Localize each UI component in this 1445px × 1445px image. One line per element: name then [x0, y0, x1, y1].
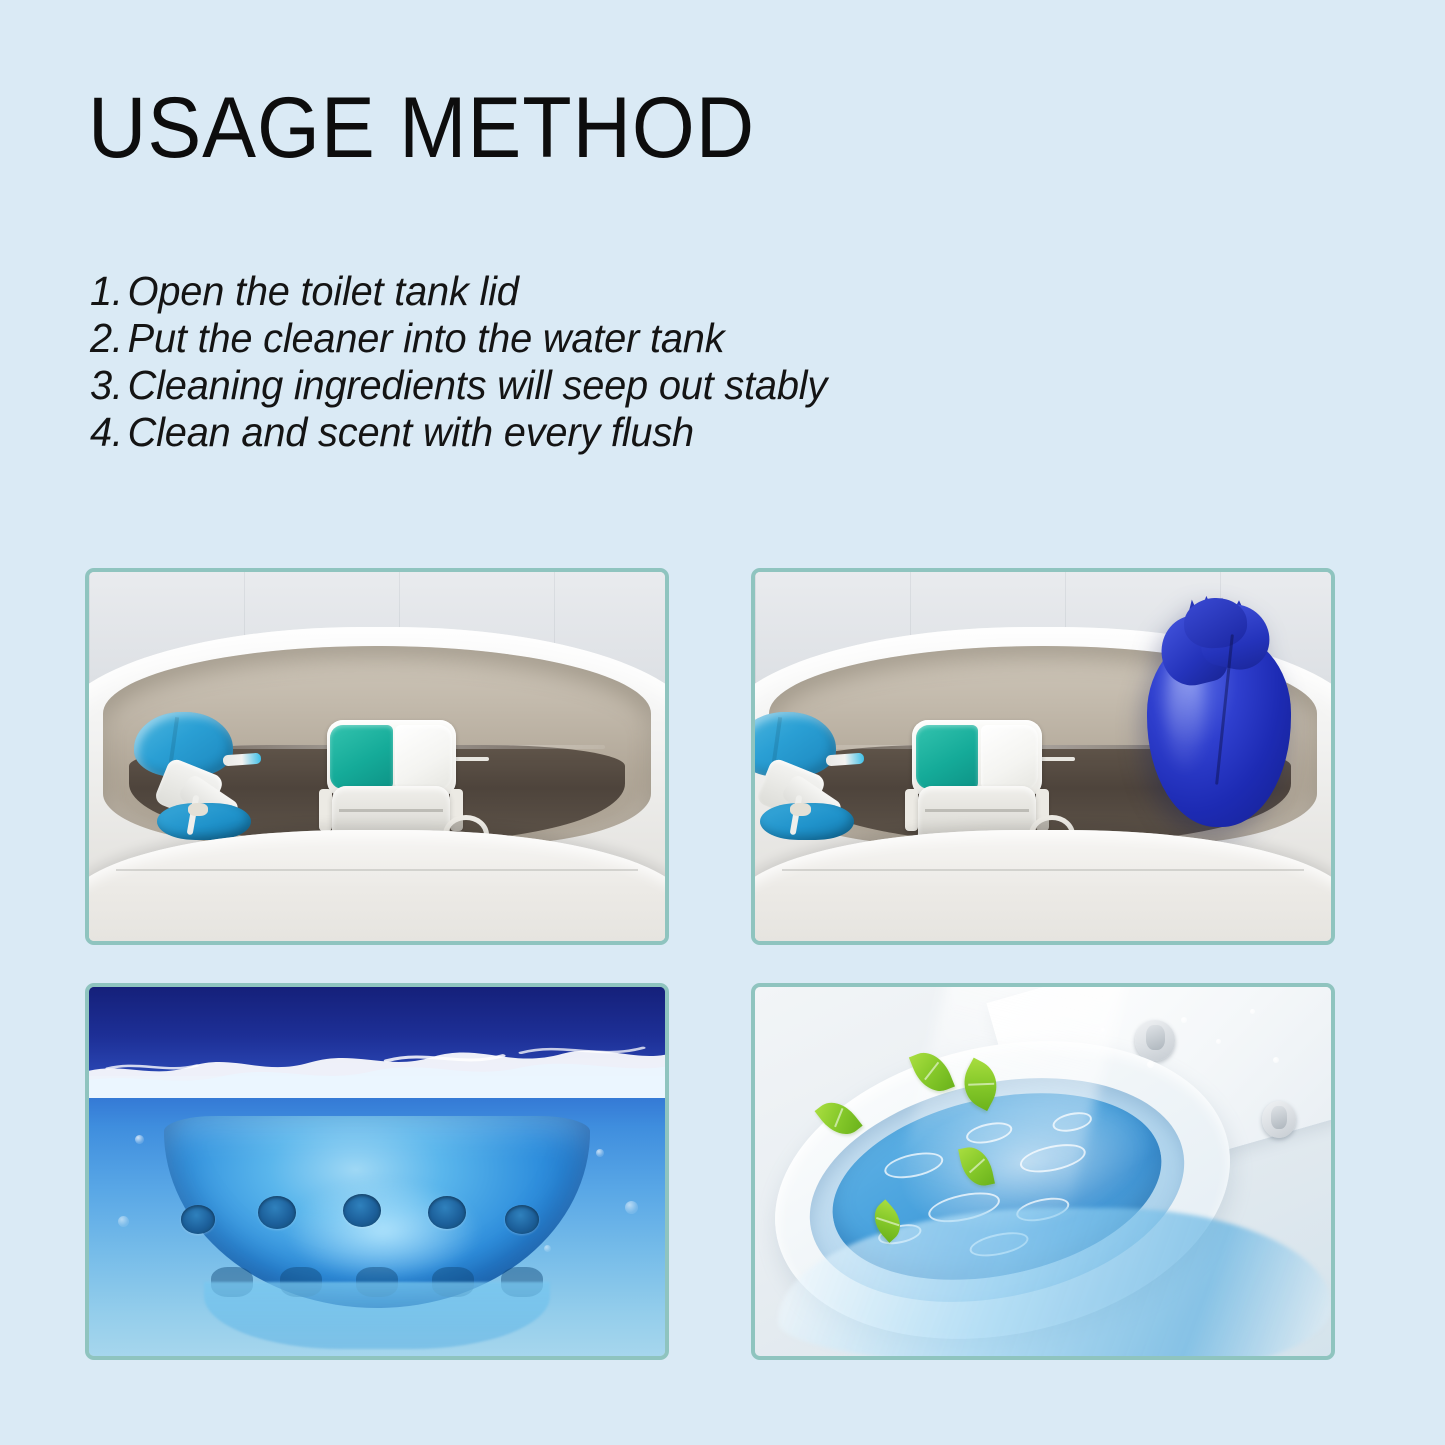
step-number-4: 4.	[90, 409, 123, 455]
water-bubble	[625, 1201, 638, 1214]
toilet-bowl-scene	[755, 987, 1331, 1356]
step-text-3: Cleaning ingredients will seep out stabl…	[128, 362, 827, 408]
flush-valve-pin	[452, 757, 489, 761]
fill-valve-clip	[790, 803, 810, 817]
underwater-scene	[89, 987, 665, 1356]
instruction-step-2: 2.Put the cleaner into the water tank	[90, 315, 1157, 362]
tank-front-rim	[89, 830, 665, 941]
page-title: USAGE METHOD	[88, 85, 755, 171]
seat-hinge-icon	[1135, 1020, 1175, 1061]
water-droplet	[1147, 1061, 1154, 1068]
flush-button-white	[981, 725, 1038, 790]
step-number-2: 2.	[90, 315, 123, 361]
photo-fresh-flush-bowl	[755, 987, 1331, 1356]
dome-hole	[428, 1196, 466, 1229]
step-number-1: 1.	[90, 268, 123, 314]
fill-valve-nozzle	[223, 752, 262, 766]
water-droplet	[1216, 1039, 1221, 1044]
instruction-step-4: 4.Clean and scent with every flush	[90, 409, 1157, 456]
blue-fill-valve	[129, 712, 256, 837]
photo-insert-cleaner	[755, 572, 1331, 941]
dome-hole-row	[164, 1194, 590, 1253]
dome-base-glow	[204, 1282, 550, 1348]
dome-hole	[181, 1205, 215, 1233]
photo-panel-insert-cleaner	[751, 568, 1335, 945]
photo-panel-dissolving	[85, 983, 669, 1360]
step-text-1: Open the toilet tank lid	[128, 268, 519, 314]
step-text-2: Put the cleaner into the water tank	[128, 315, 725, 361]
instruction-step-1: 1.Open the toilet tank lid	[90, 268, 1157, 315]
dome-hole	[258, 1196, 296, 1229]
flush-valve-pin	[1037, 757, 1074, 761]
flush-button-white	[395, 725, 452, 790]
flush-valve-bracket-left	[319, 789, 332, 832]
dome-hole	[343, 1194, 381, 1227]
instruction-list: 1.Open the toilet tank lid 2.Put the cle…	[90, 268, 1190, 456]
dome-hole	[505, 1205, 539, 1233]
step-text-4: Clean and scent with every flush	[128, 409, 694, 455]
photo-panel-fresh-flush	[751, 983, 1335, 1360]
photo-open-tank	[89, 572, 665, 941]
toilet-tank-scene	[755, 572, 1331, 941]
water-droplet	[1181, 1017, 1187, 1023]
water-bubble	[596, 1149, 604, 1157]
water-droplet	[1101, 1028, 1105, 1032]
flush-button-teal	[330, 725, 392, 790]
step-number-3: 3.	[90, 362, 123, 408]
water-bubble	[135, 1135, 144, 1144]
blue-fill-valve	[755, 712, 859, 837]
instruction-step-3: 3.Cleaning ingredients will seep out sta…	[90, 362, 1157, 409]
fill-valve-nozzle	[825, 752, 864, 766]
water-surface-splash	[89, 1039, 665, 1098]
toilet-tank-scene	[89, 572, 665, 941]
flush-valve-bracket-left	[905, 789, 918, 832]
blue-rose-cleaner-product	[1147, 598, 1291, 827]
photo-cleaner-underwater	[89, 987, 665, 1356]
water-bubble	[118, 1216, 129, 1227]
photo-panel-open-tank	[85, 568, 669, 945]
tank-front-rim	[755, 830, 1331, 941]
seat-hinge-icon	[1262, 1101, 1297, 1138]
flush-button-teal	[916, 725, 978, 790]
photo-panel-grid	[85, 568, 1335, 1360]
fill-valve-clip	[188, 803, 208, 817]
